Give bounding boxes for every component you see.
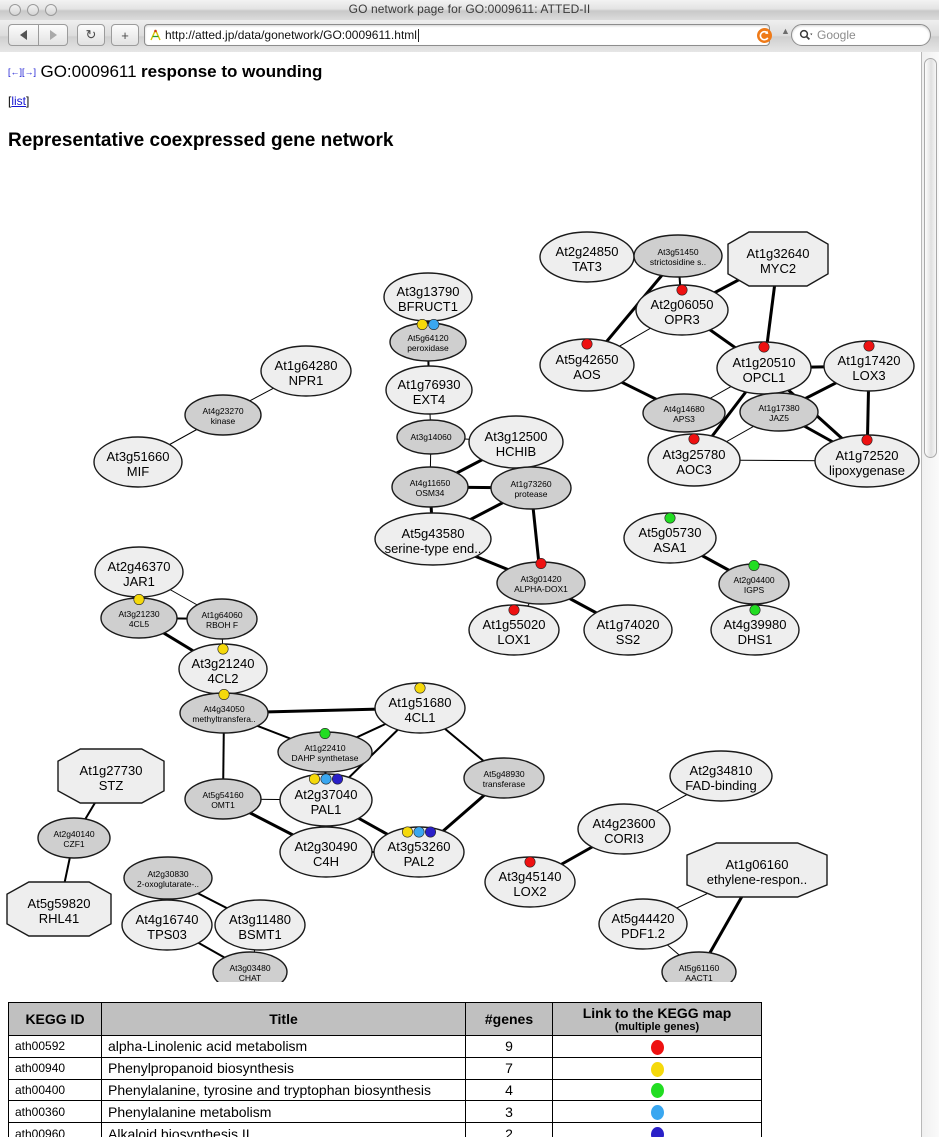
go-header: [←][→] GO:0009611 response to wounding	[8, 62, 322, 82]
network-node-At3g12500[interactable]: At3g12500HCHIB	[469, 416, 563, 468]
network-node-At3g21230[interactable]: At3g212304CL5	[101, 594, 177, 638]
node-locus-id: At1g32640	[747, 246, 810, 261]
node-gene-symbol: LOX1	[497, 632, 530, 647]
reload-icon: ↻	[86, 27, 97, 43]
network-node-At2g30830[interactable]: At2g308302-oxoglutarate-..	[124, 857, 212, 899]
node-gene-symbol: 4CL5	[129, 619, 150, 629]
node-gene-symbol: BFRUCT1	[398, 299, 458, 314]
url-text: http://atted.jp/data/gonetwork/GO:000961…	[165, 28, 417, 42]
node-gene-symbol: AOS	[573, 367, 601, 382]
kegg-map-link-cell[interactable]	[553, 1123, 762, 1137]
node-gene-symbol: APS3	[673, 414, 695, 424]
node-locus-id: At2g04400	[733, 575, 774, 585]
node-gene-symbol: TAT3	[572, 259, 602, 274]
node-locus-id: At3g01420	[520, 574, 561, 584]
node-gene-symbol: strictosidine s..	[650, 257, 706, 267]
network-node-At3g13790[interactable]: At3g13790BFRUCT1	[384, 273, 472, 321]
kegg-pathway-dot-yellow[interactable]	[219, 689, 229, 699]
forward-arrow-icon	[50, 30, 57, 40]
network-node-At2g30490[interactable]: At2g30490C4H	[280, 827, 372, 877]
node-gene-symbol: protease	[514, 489, 547, 499]
kegg-map-link-cell[interactable]	[553, 1079, 762, 1101]
node-locus-id: At1g22410	[304, 743, 345, 753]
node-gene-symbol: OPR3	[664, 312, 699, 327]
network-node-At4g34050[interactable]: At4g34050methyltransfera..	[180, 689, 268, 733]
table-row: ath00960Alkaloid biosynthesis II2	[9, 1123, 762, 1137]
network-node-At1g32640[interactable]: At1g32640MYC2	[728, 232, 828, 286]
node-gene-symbol: methyltransfera..	[192, 714, 255, 724]
node-locus-id: At2g40140	[53, 829, 94, 839]
network-node-At3g11480[interactable]: At3g11480BSMT1	[215, 900, 305, 950]
node-gene-symbol: DAHP synthetase	[292, 753, 359, 763]
node-gene-symbol: kinase	[211, 416, 236, 426]
node-locus-id: At3g21230	[118, 609, 159, 619]
browser-toolbar: ↻ + http://atted.jp/data/gonetwork/GO:00…	[0, 20, 939, 53]
node-locus-id: At3g53260	[388, 839, 451, 854]
node-locus-id: At3g03480	[229, 963, 270, 973]
node-gene-symbol: OMT1	[211, 800, 235, 810]
network-node-At5g61160[interactable]: At5g61160AACT1	[662, 952, 736, 982]
node-gene-symbol: PDF1.2	[621, 926, 665, 941]
kegg-pathway-dot-red[interactable]	[525, 857, 535, 867]
node-locus-id: At3g51450	[657, 247, 698, 257]
node-locus-id: At3g13790	[397, 284, 460, 299]
kegg-pathway-dot-yellow[interactable]	[134, 594, 144, 604]
node-gene-symbol: BSMT1	[238, 927, 281, 942]
node-gene-symbol: JAR1	[123, 574, 155, 589]
node-locus-id: At5g48930	[483, 769, 524, 779]
node-locus-id: At5g61160	[679, 963, 720, 973]
bracket-close: ]	[26, 94, 29, 108]
kegg-id-cell: ath00360	[9, 1101, 102, 1123]
table-row: ath00592alpha-Linolenic acid metabolism9	[9, 1036, 762, 1058]
node-gene-symbol: NPR1	[289, 373, 324, 388]
kegg-color-dot[interactable]	[651, 1105, 664, 1120]
network-node-At1g64280[interactable]: At1g64280NPR1	[261, 346, 351, 396]
node-locus-id: At1g64280	[275, 358, 338, 373]
kegg-map-link-cell[interactable]	[553, 1036, 762, 1058]
node-locus-id: At1g72520	[836, 448, 899, 463]
kegg-genecount-cell: 2	[466, 1123, 553, 1137]
back-button[interactable]	[8, 24, 38, 46]
node-locus-id: At1g27730	[80, 763, 143, 778]
node-gene-symbol: LOX3	[852, 368, 885, 383]
kegg-pathway-dot-green[interactable]	[749, 560, 759, 570]
network-node-At2g04400[interactable]: At2g04400IGPS	[719, 560, 789, 604]
kegg-pathway-dot-yellow[interactable]	[415, 683, 425, 693]
col-link-sub: (multiple genes)	[559, 1021, 755, 1033]
kegg-map-link-cell[interactable]	[553, 1101, 762, 1123]
list-link[interactable]: list	[11, 94, 26, 108]
prev-go-link[interactable]: [←]	[8, 67, 22, 77]
network-node-At2g40140[interactable]: At2g40140CZF1	[38, 818, 110, 858]
search-input[interactable]: Google	[791, 24, 931, 46]
kegg-pathway-dot-green[interactable]	[665, 513, 675, 523]
kegg-pathway-dot-darkblue[interactable]	[425, 827, 435, 837]
network-node-At2g06050[interactable]: At2g06050OPR3	[636, 285, 728, 335]
node-gene-symbol: STZ	[99, 778, 124, 793]
network-node-At2g24850[interactable]: At2g24850TAT3	[540, 232, 634, 282]
network-node-At3g25780[interactable]: At3g25780AOC3	[648, 434, 740, 486]
node-locus-id: At3g11480	[229, 912, 291, 927]
node-locus-id: At1g20510	[733, 355, 796, 370]
node-locus-id: At2g46370	[108, 559, 171, 574]
node-gene-symbol: TPS03	[147, 927, 187, 942]
network-node-At1g64060[interactable]: At1g64060RBOH F	[187, 599, 257, 639]
network-node-At5g44420[interactable]: At5g44420PDF1.2	[599, 899, 687, 949]
node-locus-id: At2g37040	[295, 787, 358, 802]
node-locus-id: At1g74020	[597, 617, 660, 632]
network-node-At1g74020[interactable]: At1g74020SS2	[584, 605, 672, 655]
node-locus-id: At5g44420	[612, 911, 675, 926]
kegg-genecount-cell: 4	[466, 1079, 553, 1101]
col-link-main: Link to the KEGG map	[583, 1005, 732, 1021]
node-locus-id: At2g30490	[295, 839, 358, 854]
kegg-pathway-dot-red[interactable]	[509, 605, 519, 615]
back-arrow-icon	[20, 30, 27, 40]
node-locus-id: At5g05730	[639, 525, 702, 540]
node-gene-symbol: 4CL2	[207, 671, 238, 686]
kegg-pathway-dot-red[interactable]	[864, 341, 874, 351]
kegg-pathway-dot-green[interactable]	[750, 605, 760, 615]
page-content: [←][→] GO:0009611 response to wounding […	[0, 52, 922, 1137]
node-gene-symbol: 2-oxoglutarate-..	[137, 879, 199, 889]
kegg-pathway-dot-lightblue[interactable]	[429, 319, 439, 329]
network-node-At2g46370[interactable]: At2g46370JAR1	[95, 547, 183, 597]
table-row: ath00400Phenylalanine, tyrosine and tryp…	[9, 1079, 762, 1101]
window-title: GO network page for GO:0009611: ATTED-II	[0, 2, 939, 16]
network-node-At3g45140[interactable]: At3g45140LOX2	[485, 857, 575, 907]
node-gene-symbol: ethylene-respon..	[707, 872, 807, 887]
add-bookmark-button[interactable]: +	[111, 24, 139, 46]
kegg-title-cell: Phenylalanine metabolism	[102, 1101, 466, 1123]
node-locus-id: At1g17420	[838, 353, 901, 368]
node-gene-symbol: RBOH F	[206, 620, 238, 630]
kegg-table: KEGG ID Title #genes Link to the KEGG ma…	[8, 1002, 762, 1137]
node-locus-id: At3g12500	[485, 429, 548, 444]
go-id: GO:0009611	[40, 62, 136, 81]
node-gene-symbol: ASA1	[653, 540, 686, 555]
next-go-link[interactable]: [→]	[22, 67, 36, 77]
node-locus-id: At4g16740	[136, 912, 199, 927]
kegg-pathway-dot-red[interactable]	[536, 558, 546, 568]
node-gene-symbol: peroxidase	[407, 343, 449, 353]
node-locus-id: At2g34810	[690, 763, 753, 778]
table-row: ath00360Phenylalanine metabolism3	[9, 1101, 762, 1123]
node-locus-id: At1g06160	[726, 857, 789, 872]
kegg-pathway-dot-green[interactable]	[320, 728, 330, 738]
node-gene-symbol: HCHIB	[496, 444, 536, 459]
node-locus-id: At1g73260	[510, 479, 551, 489]
node-gene-symbol: OPCL1	[743, 370, 786, 385]
network-node-At1g22410[interactable]: At1g22410DAHP synthetase	[278, 728, 372, 772]
node-gene-symbol: serine-type end..	[385, 541, 482, 556]
network-node-At1g72520[interactable]: At1g72520lipoxygenase	[815, 435, 919, 487]
site-favicon-icon	[149, 29, 162, 42]
kegg-pathway-dot-yellow[interactable]	[417, 319, 427, 329]
kegg-pathway-dot-red[interactable]	[677, 285, 687, 295]
kegg-color-dot[interactable]	[651, 1083, 664, 1098]
list-link-wrapper: [list]	[8, 94, 29, 108]
node-gene-symbol: SS2	[616, 632, 641, 647]
kegg-pathway-dot-yellow[interactable]	[402, 827, 412, 837]
node-locus-id: At3g25780	[663, 447, 726, 462]
kegg-genecount-cell: 9	[466, 1036, 553, 1058]
col-link: Link to the KEGG map (multiple genes)	[553, 1003, 762, 1036]
vertical-scrollbar[interactable]	[921, 52, 939, 1137]
kegg-color-dot[interactable]	[651, 1062, 664, 1077]
network-node-At3g51450[interactable]: At3g51450strictosidine s..	[634, 235, 722, 277]
node-locus-id: At2g06050	[651, 297, 714, 312]
network-node-At1g17380[interactable]: At1g17380JAZ5	[740, 393, 818, 431]
node-gene-symbol: PAL2	[404, 854, 435, 869]
node-gene-symbol: MIF	[127, 464, 149, 479]
window-titlebar: GO network page for GO:0009611: ATTED-II	[0, 0, 939, 21]
network-nodes[interactable]: At2g24850TAT3At3g51450strictosidine s..A…	[7, 232, 919, 982]
node-locus-id: At5g64120	[407, 333, 448, 343]
network-node-At3g51660[interactable]: At3g51660MIF	[94, 437, 182, 487]
network-node-At3g53260[interactable]: At3g53260PAL2	[374, 827, 464, 877]
page-viewport: [←][→] GO:0009611 response to wounding […	[0, 52, 939, 1137]
node-locus-id: At5g59820	[28, 896, 91, 911]
network-node-At1g17420[interactable]: At1g17420LOX3	[824, 341, 914, 391]
node-gene-symbol: PAL1	[311, 802, 342, 817]
search-icon	[799, 29, 813, 42]
node-locus-id: At2g24850	[556, 244, 619, 259]
node-gene-symbol: IGPS	[744, 585, 765, 595]
network-node-At1g73260[interactable]: At1g73260protease	[491, 467, 571, 509]
kegg-pathway-dot-red[interactable]	[862, 435, 872, 445]
kegg-pathway-dot-lightblue[interactable]	[321, 774, 331, 784]
node-locus-id: At3g14060	[410, 432, 451, 442]
col-genes: #genes	[466, 1003, 553, 1036]
kegg-color-dot[interactable]	[651, 1040, 664, 1055]
node-gene-symbol: AOC3	[676, 462, 711, 477]
search-placeholder: Google	[817, 28, 856, 42]
kegg-id-cell: ath00940	[9, 1057, 102, 1079]
kegg-pathway-dot-lightblue[interactable]	[414, 827, 424, 837]
network-node-At2g37040[interactable]: At2g37040PAL1	[280, 774, 372, 826]
node-locus-id: At5g42650	[556, 352, 619, 367]
kegg-pathway-dot-yellow[interactable]	[218, 644, 228, 654]
reload-button[interactable]: ↻	[77, 24, 105, 46]
node-gene-symbol: EXT4	[413, 392, 446, 407]
stop-reload-icon[interactable]	[757, 28, 772, 43]
toolbar-overflow-icon[interactable]: ▲	[781, 26, 790, 36]
network-node-At1g76930[interactable]: At1g76930EXT4	[386, 366, 472, 414]
node-locus-id: At1g76930	[398, 377, 461, 392]
network-node-At5g48930[interactable]: At5g48930transferase	[464, 758, 544, 798]
node-locus-id: At1g55020	[483, 617, 546, 632]
page-title: Representative coexpressed gene network	[8, 130, 393, 152]
node-gene-symbol: 4CL1	[404, 710, 435, 725]
network-node-At1g55020[interactable]: At1g55020LOX1	[469, 605, 559, 655]
browser-window: GO network page for GO:0009611: ATTED-II…	[0, 0, 939, 1137]
kegg-pathway-dot-yellow[interactable]	[309, 774, 319, 784]
node-gene-symbol: DHS1	[738, 632, 773, 647]
node-gene-symbol: C4H	[313, 854, 339, 869]
network-node-At4g39980[interactable]: At4g39980DHS1	[711, 605, 799, 655]
network-node-At5g59820[interactable]: At5g59820RHL41	[7, 882, 111, 936]
network-node-At1g20510[interactable]: At1g20510OPCL1	[717, 342, 811, 394]
node-gene-symbol: RHL41	[39, 911, 79, 926]
kegg-title-cell: Alkaloid biosynthesis II	[102, 1123, 466, 1137]
network-node-At1g27730[interactable]: At1g27730STZ	[58, 749, 164, 803]
kegg-table-body: ath00592alpha-Linolenic acid metabolism9…	[9, 1036, 762, 1137]
node-gene-symbol: CHAT	[239, 973, 262, 982]
go-term: response to wounding	[141, 62, 322, 81]
kegg-pathway-dot-red[interactable]	[759, 342, 769, 352]
network-node-At3g14060[interactable]: At3g14060	[397, 420, 465, 454]
col-title: Title	[102, 1003, 466, 1036]
node-gene-symbol: JAZ5	[769, 413, 789, 423]
node-locus-id: At4g23600	[593, 816, 656, 831]
network-node-At3g21240[interactable]: At3g212404CL2	[179, 644, 267, 694]
node-gene-symbol: transferase	[483, 779, 526, 789]
node-locus-id: At4g14680	[663, 404, 704, 414]
node-gene-symbol: OSM34	[416, 488, 445, 498]
kegg-id-cell: ath00592	[9, 1036, 102, 1058]
stop-glyph-icon	[757, 28, 772, 43]
network-node-At1g06160[interactable]: At1g06160ethylene-respon..	[687, 843, 827, 897]
node-gene-symbol: AACT1	[685, 973, 713, 982]
network-node-At4g14680[interactable]: At4g14680APS3	[643, 394, 725, 432]
kegg-genecount-cell: 3	[466, 1101, 553, 1123]
node-locus-id: At2g30830	[147, 869, 188, 879]
node-gene-symbol: lipoxygenase	[829, 463, 905, 478]
node-gene-symbol: CZF1	[63, 839, 85, 849]
node-locus-id: At5g54160	[202, 790, 243, 800]
scrollbar-thumb[interactable]	[924, 58, 937, 458]
node-gene-symbol: FAD-binding	[685, 778, 757, 793]
url-caret	[418, 29, 419, 42]
kegg-map-link-cell[interactable]	[553, 1057, 762, 1079]
kegg-color-dot[interactable]	[651, 1127, 664, 1137]
coexpression-network-graph[interactable]: At2g24850TAT3At3g51450strictosidine s..A…	[0, 162, 922, 982]
table-row: ath00940Phenylpropanoid biosynthesis7	[9, 1057, 762, 1079]
node-locus-id: At4g34050	[203, 704, 244, 714]
node-locus-id: At1g51680	[389, 695, 452, 710]
kegg-id-cell: ath00400	[9, 1079, 102, 1101]
network-node-At3g01420[interactable]: At3g01420ALPHA-DOX1	[497, 558, 585, 604]
node-locus-id: At4g39980	[724, 617, 787, 632]
node-gene-symbol: ALPHA-DOX1	[514, 584, 568, 594]
network-node-At4g23270[interactable]: At4g23270kinase	[185, 395, 261, 435]
network-node-At5g42650[interactable]: At5g42650AOS	[540, 339, 634, 391]
network-node-At4g11650[interactable]: At4g11650OSM34	[392, 467, 468, 507]
network-node-At5g54160[interactable]: At5g54160OMT1	[185, 779, 261, 819]
kegg-genecount-cell: 7	[466, 1057, 553, 1079]
col-kegg-id: KEGG ID	[9, 1003, 102, 1036]
kegg-title-cell: alpha-Linolenic acid metabolism	[102, 1036, 466, 1058]
address-bar[interactable]: http://atted.jp/data/gonetwork/GO:000961…	[144, 24, 770, 46]
network-node-At5g05730[interactable]: At5g05730ASA1	[624, 513, 716, 563]
table-header-row: KEGG ID Title #genes Link to the KEGG ma…	[9, 1003, 762, 1036]
network-node-At4g16740[interactable]: At4g16740TPS03	[122, 900, 212, 950]
kegg-title-cell: Phenylpropanoid biosynthesis	[102, 1057, 466, 1079]
network-node-At5g64120[interactable]: At5g64120peroxidase	[390, 319, 466, 361]
node-gene-symbol: CORI3	[604, 831, 644, 846]
network-node-At2g34810[interactable]: At2g34810FAD-binding	[670, 751, 772, 801]
network-node-At4g23600[interactable]: At4g23600CORI3	[578, 804, 670, 854]
forward-button[interactable]	[38, 24, 68, 46]
node-locus-id: At4g23270	[202, 406, 243, 416]
node-locus-id: At1g17380	[758, 403, 799, 413]
node-gene-symbol: MYC2	[760, 261, 796, 276]
kegg-pathway-dot-red[interactable]	[689, 434, 699, 444]
kegg-pathway-dot-darkblue[interactable]	[332, 774, 342, 784]
network-node-At1g51680[interactable]: At1g516804CL1	[375, 683, 465, 733]
node-locus-id: At1g64060	[201, 610, 242, 620]
kegg-title-cell: Phenylalanine, tyrosine and tryptophan b…	[102, 1079, 466, 1101]
node-locus-id: At3g45140	[499, 869, 562, 884]
kegg-pathway-dot-red[interactable]	[582, 339, 592, 349]
node-gene-symbol: LOX2	[513, 884, 546, 899]
node-locus-id: At5g43580	[402, 526, 465, 541]
node-locus-id: At3g51660	[107, 449, 170, 464]
kegg-id-cell: ath00960	[9, 1123, 102, 1137]
network-node-At5g43580[interactable]: At5g43580serine-type end..	[375, 513, 491, 565]
node-locus-id: At3g21240	[192, 656, 255, 671]
plus-icon: +	[121, 28, 129, 43]
node-locus-id: At4g11650	[410, 478, 451, 488]
